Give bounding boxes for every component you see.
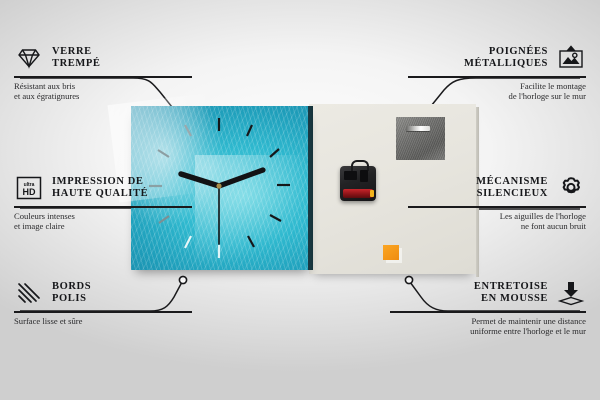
feature-title-line2: HAUTE QUALITÉ bbox=[52, 188, 148, 199]
divider bbox=[14, 76, 192, 78]
clock-mechanism bbox=[340, 166, 376, 201]
diagonal-lines-icon bbox=[14, 278, 44, 308]
feature-desc-line1: Permet de maintenir une distance bbox=[471, 316, 586, 326]
feature-desc-line1: Surface lisse et sûre bbox=[14, 316, 83, 326]
feature-desc-line2: et image claire bbox=[14, 221, 65, 231]
gear-icon bbox=[556, 173, 586, 203]
feature-mecanisme-silencieux: MÉCANISME SILENCIEUX Les aiguilles de l'… bbox=[408, 173, 586, 232]
feature-poignees-metalliques: POIGNÉES MÉTALLIQUES Facilite le montage… bbox=[408, 43, 586, 102]
divider bbox=[390, 311, 586, 313]
divider bbox=[14, 311, 192, 313]
feature-title-line1: VERRE bbox=[52, 46, 92, 57]
feature-desc-line2: ne font aucun bruit bbox=[521, 221, 586, 231]
feature-desc-line2: uniforme entre l'horloge et le mur bbox=[470, 326, 586, 336]
ultra-hd-bottom: HD bbox=[23, 187, 36, 197]
feature-title-line2: SILENCIEUX bbox=[477, 188, 548, 199]
divider bbox=[408, 76, 586, 78]
diamond-icon bbox=[14, 43, 44, 73]
feature-title-line1: POIGNÉES bbox=[489, 46, 548, 57]
feature-title-line2: TREMPÉ bbox=[52, 58, 101, 69]
feature-desc-line1: Couleurs intenses bbox=[14, 211, 75, 221]
divider bbox=[408, 206, 586, 208]
feature-verre-trempe: VERRE TREMPÉ Résistant aux bris et aux é… bbox=[14, 43, 192, 102]
metal-hanging-plate bbox=[396, 117, 445, 160]
feature-impression-haute-qualite: ultra HD IMPRESSION DE HAUTE QUALITÉ Cou… bbox=[14, 173, 192, 232]
foam-spacer bbox=[383, 245, 399, 260]
feature-title-line2: EN MOUSSE bbox=[481, 293, 548, 304]
feature-bords-polis: BORDS POLIS Surface lisse et sûre bbox=[14, 278, 192, 326]
feature-title-line2: MÉTALLIQUES bbox=[464, 58, 548, 69]
framed-picture-hanger-icon bbox=[556, 43, 586, 73]
arrow-down-pad-icon bbox=[556, 278, 586, 308]
feature-title-line2: POLIS bbox=[52, 293, 87, 304]
divider bbox=[14, 206, 192, 208]
feature-title-line1: MÉCANISME bbox=[476, 176, 548, 187]
feature-desc-line2: de l'horloge sur le mur bbox=[509, 91, 586, 101]
feature-desc-line1: Les aiguilles de l'horloge bbox=[500, 211, 586, 221]
feature-title-line1: BORDS bbox=[52, 281, 91, 292]
feature-entretoise-en-mousse: ENTRETOISE EN MOUSSE Permet de maintenir… bbox=[390, 278, 586, 337]
feature-title-line1: ENTRETOISE bbox=[474, 281, 548, 292]
infographic-stage: VERRE TREMPÉ Résistant aux bris et aux é… bbox=[0, 0, 600, 400]
ultra-hd-icon: ultra HD bbox=[14, 173, 44, 203]
feature-desc-line1: Facilite le montage bbox=[520, 81, 586, 91]
battery bbox=[343, 189, 373, 198]
feature-title-line1: IMPRESSION DE bbox=[52, 176, 144, 187]
feature-desc-line1: Résistant aux bris bbox=[14, 81, 75, 91]
feature-desc-line2: et aux égratignures bbox=[14, 91, 79, 101]
